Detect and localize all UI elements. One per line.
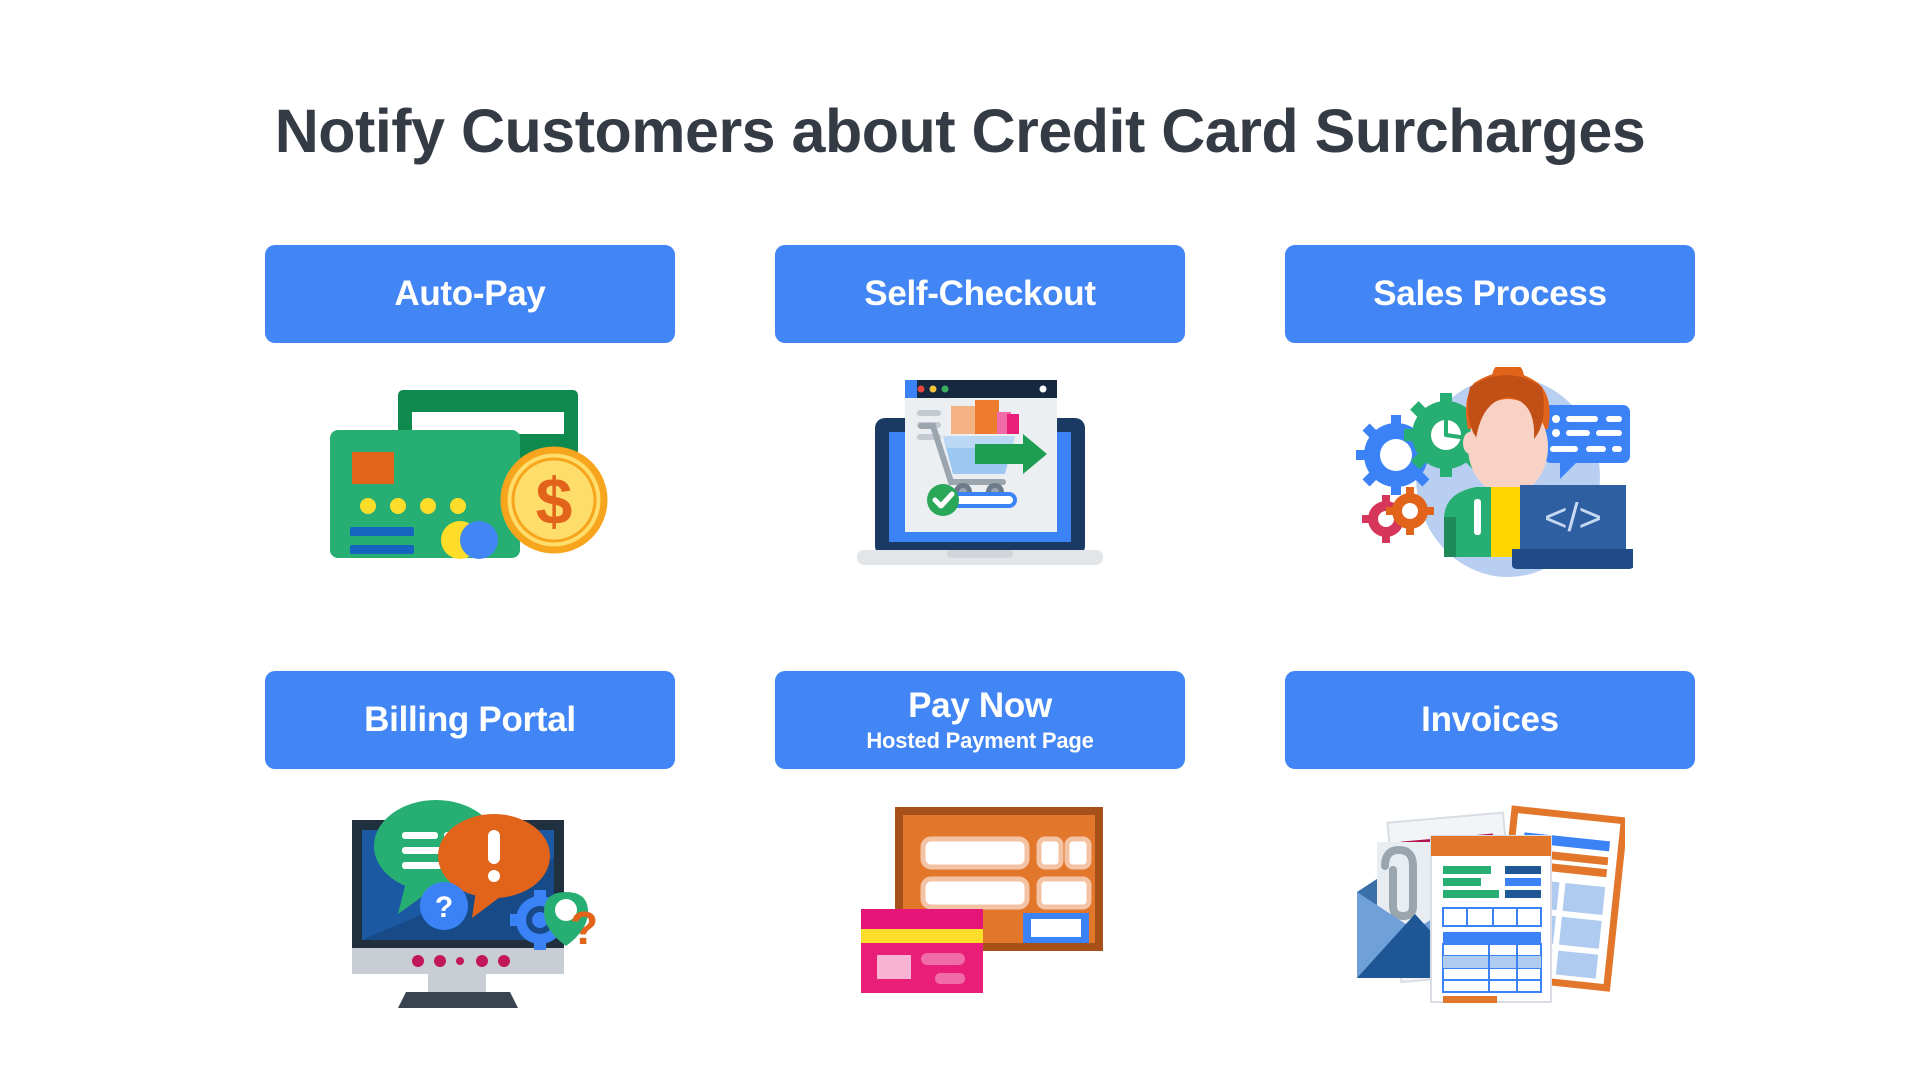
pill-label: Invoices: [1421, 702, 1559, 739]
laptop-shopping-cart-icon: [855, 367, 1105, 587]
pill-label: Auto-Pay: [394, 276, 545, 313]
card-grid: Auto-Pay: [0, 245, 1920, 1013]
person-gears-code-icon: </>: [1348, 367, 1633, 587]
card-invoices[interactable]: Invoices: [1285, 671, 1695, 1013]
pill-label: Pay Now: [908, 688, 1052, 725]
pill-label: Billing Portal: [364, 702, 576, 739]
card-self-checkout[interactable]: Self-Checkout: [775, 245, 1185, 587]
card-pay-now[interactable]: Pay Now Hosted Payment Page: [775, 671, 1185, 1013]
pill-sales-process[interactable]: Sales Process: [1285, 245, 1695, 343]
pill-pay-now[interactable]: Pay Now Hosted Payment Page: [775, 671, 1185, 769]
svg-text:?: ?: [435, 891, 453, 924]
card-billing-portal[interactable]: Billing Portal: [265, 671, 675, 1013]
svg-text:?: ?: [570, 902, 598, 954]
monitor-support-chat-icon: ? ?: [340, 793, 600, 1013]
slide-root: Notify Customers about Credit Card Surch…: [0, 0, 1920, 1080]
card-row-2: Billing Portal: [0, 671, 1920, 1013]
pill-billing-portal[interactable]: Billing Portal: [265, 671, 675, 769]
pill-self-checkout[interactable]: Self-Checkout: [775, 245, 1185, 343]
credit-cards-with-coin-icon: $: [320, 367, 620, 587]
pill-subtitle: Hosted Payment Page: [866, 729, 1093, 752]
pill-auto-pay[interactable]: Auto-Pay: [265, 245, 675, 343]
pill-invoices[interactable]: Invoices: [1285, 671, 1695, 769]
pill-label: Self-Checkout: [864, 276, 1095, 313]
page-title: Notify Customers about Credit Card Surch…: [0, 96, 1920, 166]
svg-text:</>: </>: [1544, 496, 1602, 540]
card-row-1: Auto-Pay: [0, 245, 1920, 587]
payment-form-with-card-icon: [855, 793, 1105, 1013]
card-auto-pay[interactable]: Auto-Pay: [265, 245, 675, 587]
pill-label: Sales Process: [1373, 276, 1607, 313]
svg-text:$: $: [536, 464, 573, 538]
card-sales-process[interactable]: Sales Process: [1285, 245, 1695, 587]
envelope-with-invoice-documents-icon: [1355, 793, 1625, 1013]
